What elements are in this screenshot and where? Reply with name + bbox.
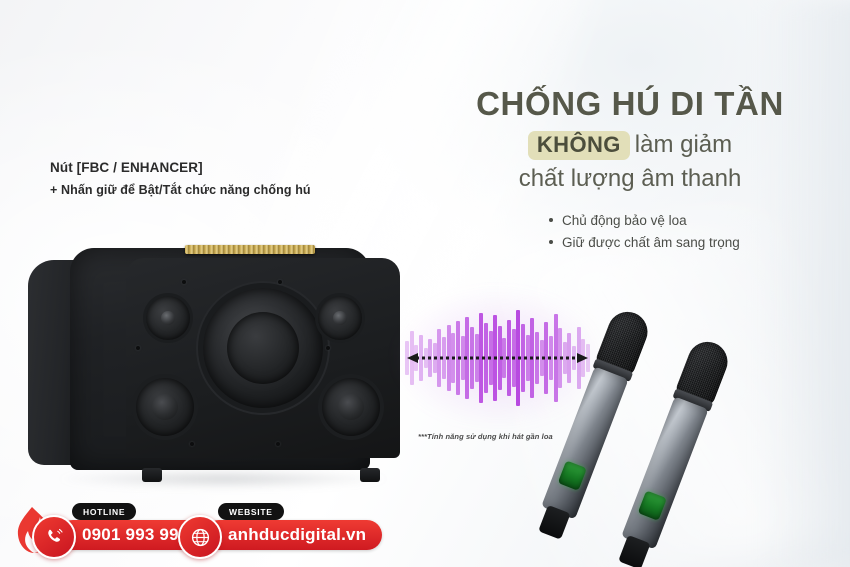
audio-waveform-graphic bbox=[405, 300, 590, 415]
contact-bar: 0901 993 997 HOTLINE anhducdigital.vn bbox=[0, 495, 850, 567]
website-pill[interactable]: anhducdigital.vn bbox=[204, 520, 382, 550]
baffle-screw bbox=[182, 280, 186, 284]
baffle-screw bbox=[326, 346, 330, 350]
baffle-screw bbox=[276, 442, 280, 446]
annotation-line-1: Nút [FBC / ENHANCER] bbox=[50, 158, 350, 178]
baffle-screw bbox=[136, 346, 140, 350]
speaker-cabinet bbox=[70, 248, 370, 470]
phone-icon-badge bbox=[32, 515, 76, 559]
bullet-items: Chủ động bảo vệ loa Giữ được chất âm san… bbox=[548, 210, 808, 254]
headline-highlight-badge: KHÔNG bbox=[528, 131, 630, 161]
globe-icon-badge bbox=[178, 515, 222, 559]
hotline-number: 0901 993 997 bbox=[82, 525, 188, 545]
speaker-gold-connector-strip bbox=[185, 245, 315, 254]
website-label: WEBSITE bbox=[218, 503, 284, 520]
annotation-line-2: + Nhấn giữ để Bật/Tắt chức năng chống hú bbox=[50, 181, 350, 199]
headline-line-2: KHÔNGlàm giảm bbox=[430, 131, 830, 161]
headline-title: CHỐNG HÚ DI TẦN bbox=[430, 86, 830, 122]
list-item: Giữ được chất âm sang trọng bbox=[548, 232, 808, 254]
feature-bullet-list: Chủ động bảo vệ loa Giữ được chất âm san… bbox=[548, 210, 808, 254]
hotline-label: HOTLINE bbox=[72, 503, 136, 520]
mid-driver-right-icon bbox=[322, 378, 380, 436]
baffle-screw bbox=[278, 280, 282, 284]
bidirectional-arrow-icon bbox=[407, 352, 588, 364]
list-item: Chủ động bảo vệ loa bbox=[548, 210, 808, 232]
headline-line-3: chất lượng âm thanh bbox=[430, 165, 830, 193]
headline-block: CHỐNG HÚ DI TẦN KHÔNGlàm giảm chất lượng… bbox=[430, 86, 830, 193]
hotline-label-text: HOTLINE bbox=[83, 507, 125, 517]
speaker-foot bbox=[360, 468, 380, 482]
tweeter-right-icon bbox=[318, 296, 362, 340]
headline-after-highlight: làm giảm bbox=[635, 131, 732, 158]
baffle-screw bbox=[190, 442, 194, 446]
phone-icon bbox=[44, 527, 64, 547]
woofer-driver-icon bbox=[203, 288, 323, 408]
tweeter-left-icon bbox=[146, 296, 190, 340]
microphones-image bbox=[598, 288, 850, 528]
promo-banner: Nút [FBC / ENHANCER] + Nhấn giữ để Bật/T… bbox=[0, 0, 850, 567]
speaker-foot bbox=[142, 468, 162, 482]
speaker-image bbox=[28, 248, 378, 478]
website-url: anhducdigital.vn bbox=[228, 525, 366, 545]
globe-icon bbox=[190, 527, 211, 548]
mid-driver-left-icon bbox=[136, 378, 194, 436]
website-label-text: WEBSITE bbox=[229, 507, 273, 517]
speaker-drop-shadow bbox=[58, 470, 388, 488]
feature-annotation: Nút [FBC / ENHANCER] + Nhấn giữ để Bật/T… bbox=[50, 158, 350, 199]
